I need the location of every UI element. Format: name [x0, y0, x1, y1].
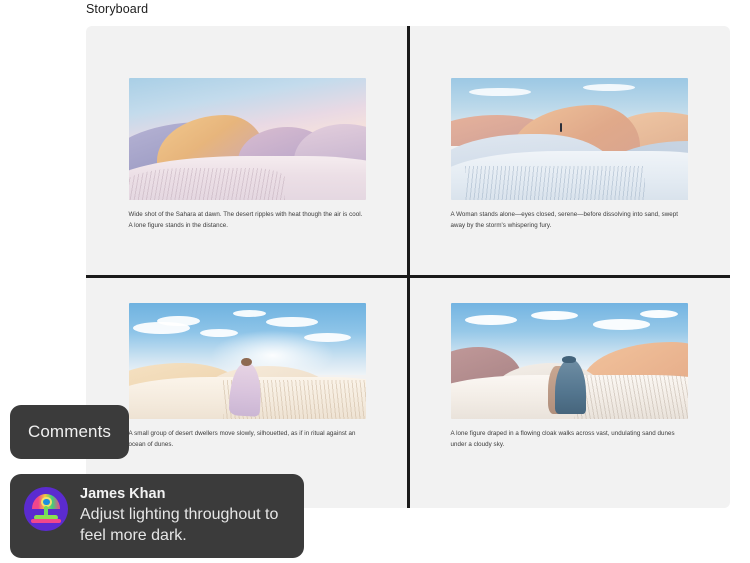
- storyboard-page: Storyboard: [0, 0, 750, 563]
- comments-button-label: Comments: [28, 422, 111, 442]
- storyboard-caption-3: A small group of desert dwellers move sl…: [129, 428, 366, 451]
- storyboard-caption-2: A Woman stands alone—eyes closed, serene…: [451, 209, 688, 232]
- storyboard-cell-3[interactable]: A small group of desert dwellers move sl…: [86, 267, 408, 508]
- storyboard-image-4[interactable]: [451, 303, 688, 419]
- avatar: [24, 487, 68, 531]
- eye-icon: [43, 499, 50, 506]
- desert-dawn-artwork: [129, 78, 366, 200]
- storyboard-caption-4: A lone figure draped in a flowing cloak …: [451, 428, 688, 451]
- comment-card[interactable]: James Khan Adjust lighting throughout to…: [10, 474, 304, 558]
- storyboard-panel: Wide shot of the Sahara at dawn. The des…: [86, 26, 730, 508]
- page-title: Storyboard: [86, 2, 148, 16]
- storyboard-image-2[interactable]: [451, 78, 688, 200]
- comment-text: Adjust lighting throughout to feel more …: [80, 504, 292, 547]
- storyboard-cell-2[interactable]: A Woman stands alone—eyes closed, serene…: [408, 26, 730, 267]
- comment-body: James Khan Adjust lighting throughout to…: [80, 485, 292, 547]
- storyboard-caption-1: Wide shot of the Sahara at dawn. The des…: [129, 209, 366, 232]
- woman-in-gown-artwork: [129, 303, 366, 419]
- grid-divider-vertical: [407, 26, 410, 508]
- mushroom-base-shadow-icon: [31, 519, 60, 523]
- storyboard-cell-4[interactable]: A lone figure draped in a flowing cloak …: [408, 267, 730, 508]
- storyboard-image-3[interactable]: [129, 303, 366, 419]
- cloaked-figure-artwork: [451, 303, 688, 419]
- grid-divider-horizontal: [86, 275, 730, 278]
- comment-author: James Khan: [80, 485, 292, 503]
- dune-ridge-walker-artwork: [451, 78, 688, 200]
- storyboard-cell-1[interactable]: Wide shot of the Sahara at dawn. The des…: [86, 26, 408, 267]
- storyboard-image-1[interactable]: [129, 78, 366, 200]
- comments-button[interactable]: Comments: [10, 405, 129, 459]
